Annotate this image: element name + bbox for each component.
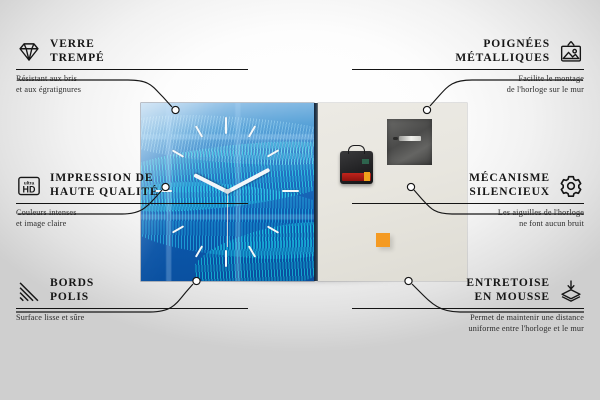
feature-title-line2: POLIS <box>50 291 94 305</box>
metal-hanger-plate <box>387 119 432 165</box>
feature-divider <box>352 69 584 70</box>
press-down-pad-icon <box>558 278 584 304</box>
feature-title-line2: HAUTE QUALITÉ <box>50 186 159 200</box>
feature-sub-line1: Couleurs intenses <box>16 208 248 218</box>
foam-spacer-pad <box>376 233 390 247</box>
feature-mecanisme-silencieux: MÉCANISME SILENCIEUX Les aiguilles de l'… <box>352 172 584 229</box>
feature-sub-line2: de l'horloge sur le mur <box>352 85 584 95</box>
hanging-frame-icon <box>558 39 584 65</box>
feature-divider <box>352 308 584 309</box>
diamond-icon <box>16 39 42 65</box>
feature-title-line2: MÉTALLIQUES <box>455 52 550 66</box>
feature-title-line1: BORDS <box>50 277 94 291</box>
feature-sub-line1: Permet de maintenir une distance <box>352 313 584 323</box>
feature-divider <box>352 203 584 204</box>
ultra-hd-icon: ultra HD <box>16 173 42 199</box>
feature-entretoise-en-mousse: ENTRETOISE EN MOUSSE Permet de maintenir… <box>352 277 584 334</box>
feature-title-line1: MÉCANISME <box>469 172 550 186</box>
feature-impression-haute-qualite: ultra HD IMPRESSION DE HAUTE QUALITÉ Cou… <box>16 172 248 229</box>
feature-divider <box>16 308 248 309</box>
mechanism-hanging-loop <box>348 145 365 154</box>
feature-sub-line1: Les aiguilles de l'horloge <box>352 208 584 218</box>
feature-verre-trempe: VERRE TREMPÉ Résistant aux bris et aux é… <box>16 38 248 95</box>
feature-title-line1: IMPRESSION DE <box>50 172 159 186</box>
feature-sub-line1: Surface lisse et sûre <box>16 313 248 323</box>
gear-icon <box>558 173 584 199</box>
feature-title-line1: POIGNÉES <box>455 38 550 52</box>
feature-bords-polis: BORDS POLIS Surface lisse et sûre <box>16 277 248 324</box>
feature-title-line1: VERRE <box>50 38 105 52</box>
feature-sub-line1: Résistant aux bris <box>16 74 248 84</box>
ultra-hd-icon-large-text: HD <box>23 184 36 194</box>
feature-title-line1: ENTRETOISE <box>466 277 550 291</box>
feature-sub-line2: ne font aucun bruit <box>352 219 584 229</box>
hanger-hole <box>393 137 398 140</box>
mechanism-circuit-chip <box>362 159 369 164</box>
feature-sub-line2: et image claire <box>16 219 248 229</box>
feature-title-line2: TREMPÉ <box>50 52 105 66</box>
feature-sub-line1: Facilite le montage <box>352 74 584 84</box>
polished-edge-icon <box>16 278 42 304</box>
feature-title-line2: EN MOUSSE <box>466 291 550 305</box>
feature-sub-line2: uniforme entre l'horloge et le mur <box>352 324 584 334</box>
hanger-slot <box>399 136 421 141</box>
infographic-canvas: VERRE TREMPÉ Résistant aux bris et aux é… <box>0 0 600 400</box>
feature-divider <box>16 203 248 204</box>
feature-sub-line2: et aux égratignures <box>16 85 248 95</box>
feature-title-line2: SILENCIEUX <box>469 186 550 200</box>
feature-divider <box>16 69 248 70</box>
feature-poignees-metalliques: POIGNÉES MÉTALLIQUES Facilite le montage… <box>352 38 584 95</box>
